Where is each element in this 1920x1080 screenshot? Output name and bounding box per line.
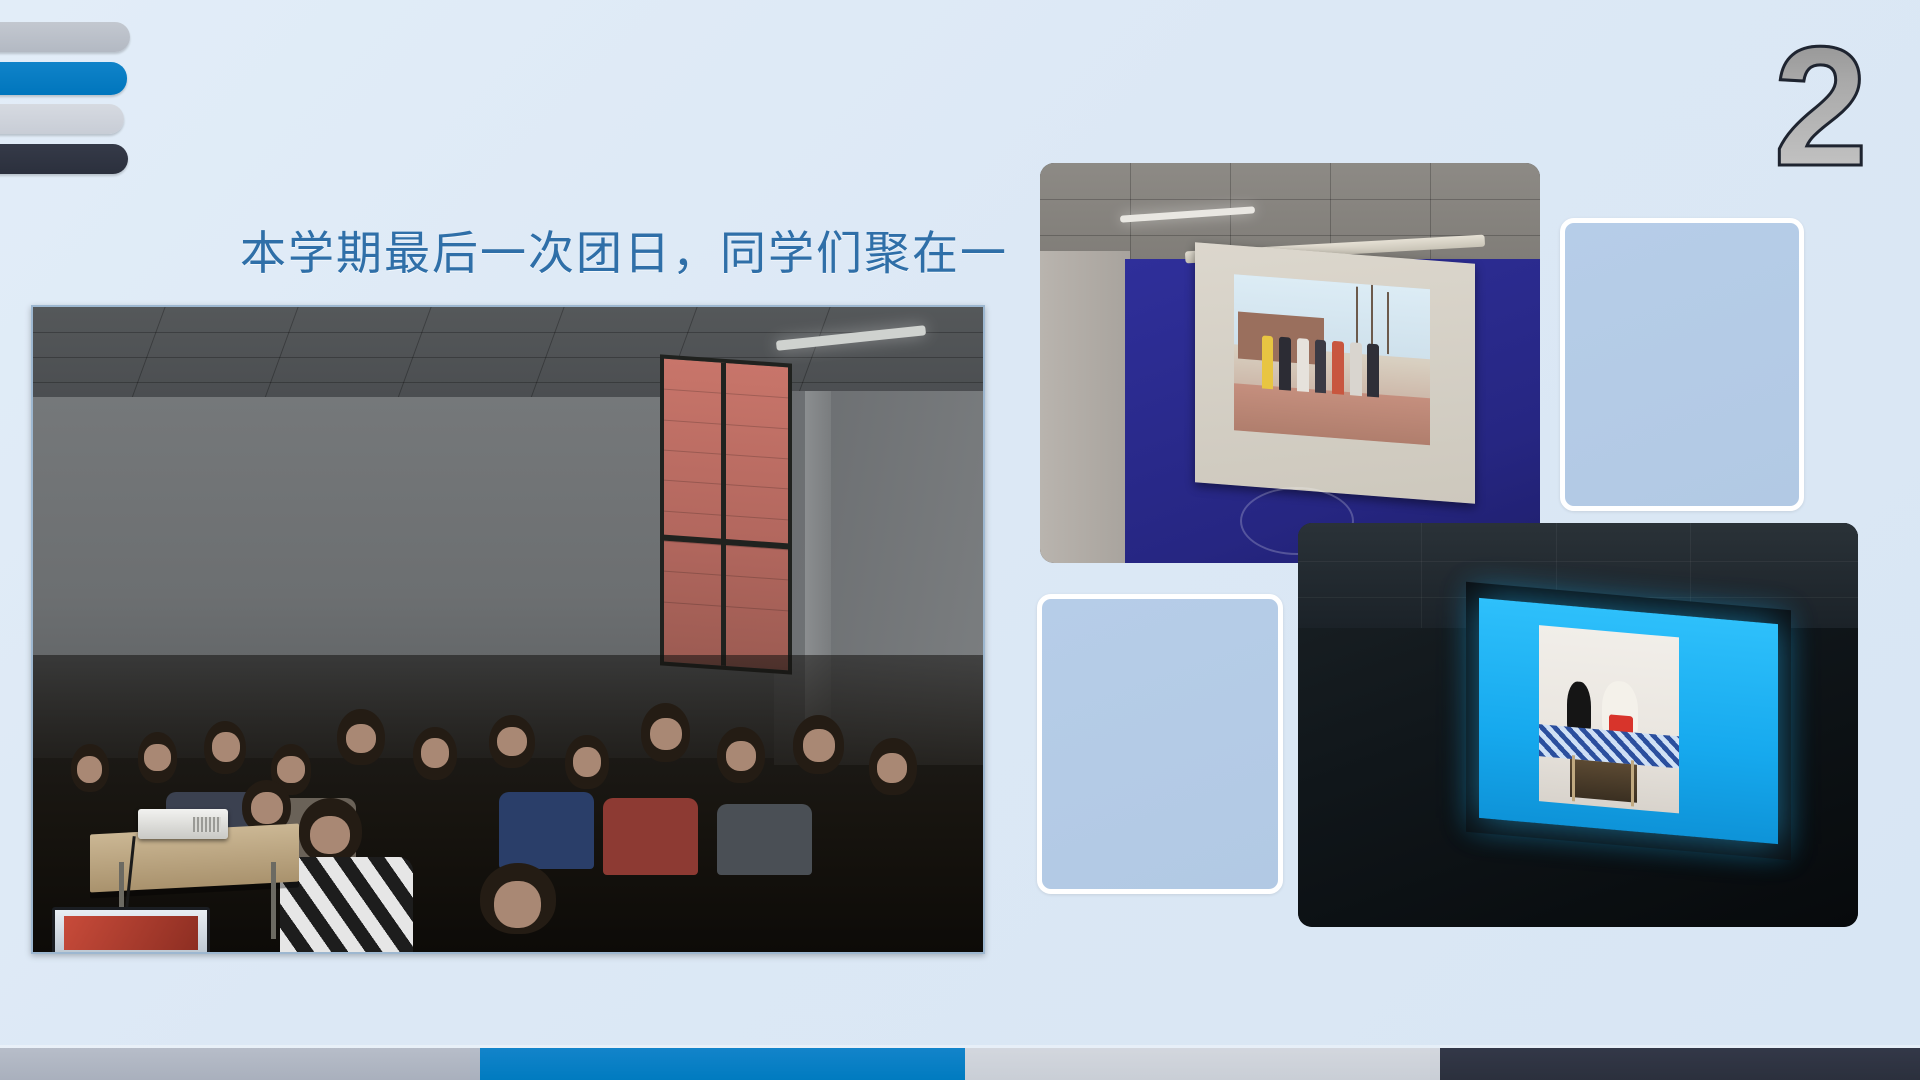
laptop-screen [52,907,210,954]
ceiling-tiles [33,307,983,404]
projector-device [138,809,228,839]
decor-bar-gray-top [0,22,130,52]
dorm-desk [1570,758,1637,803]
projection-room-scene [1040,163,1540,563]
dark-room-projection-photo [1298,523,1858,927]
slide-canvas: 本学期最后一次团日，同学们聚在一 起回顾这一学期的点点滴滴 2 [0,0,1920,1080]
decorative-bar-stack [0,22,200,182]
footer-segment-gray [0,1048,480,1080]
window-with-brick-view [660,354,792,674]
classroom-scene [33,307,983,952]
slide-number: 2 [1773,22,1868,192]
projected-group-photo [1234,274,1430,445]
projector-vent [193,817,220,832]
decor-bar-light-gray [0,104,124,134]
projected-dorm-photo [1539,625,1679,814]
decor-bar-dark-navy [0,144,128,174]
laptop-screen-image [64,916,198,950]
slide-title-line-1: 本学期最后一次团日，同学们聚在一 [240,222,1040,285]
footer-segment-light [965,1048,1440,1080]
screen-frame [1466,582,1791,861]
desk-leg [271,862,276,939]
side-wall [1040,251,1130,563]
projection-screen-photo [1040,163,1540,563]
bright-projection-screen [1479,598,1778,845]
footer-color-strip [0,1048,1920,1080]
footer-segment-blue [480,1048,965,1080]
projection-screen [1195,242,1475,504]
footer-segment-navy [1440,1048,1920,1080]
image-placeholder-right[interactable] [1560,218,1804,511]
image-placeholder-left[interactable] [1037,594,1283,894]
decor-bar-blue [0,62,127,95]
classroom-audience-photo [31,305,985,954]
dark-room-scene [1298,523,1858,927]
